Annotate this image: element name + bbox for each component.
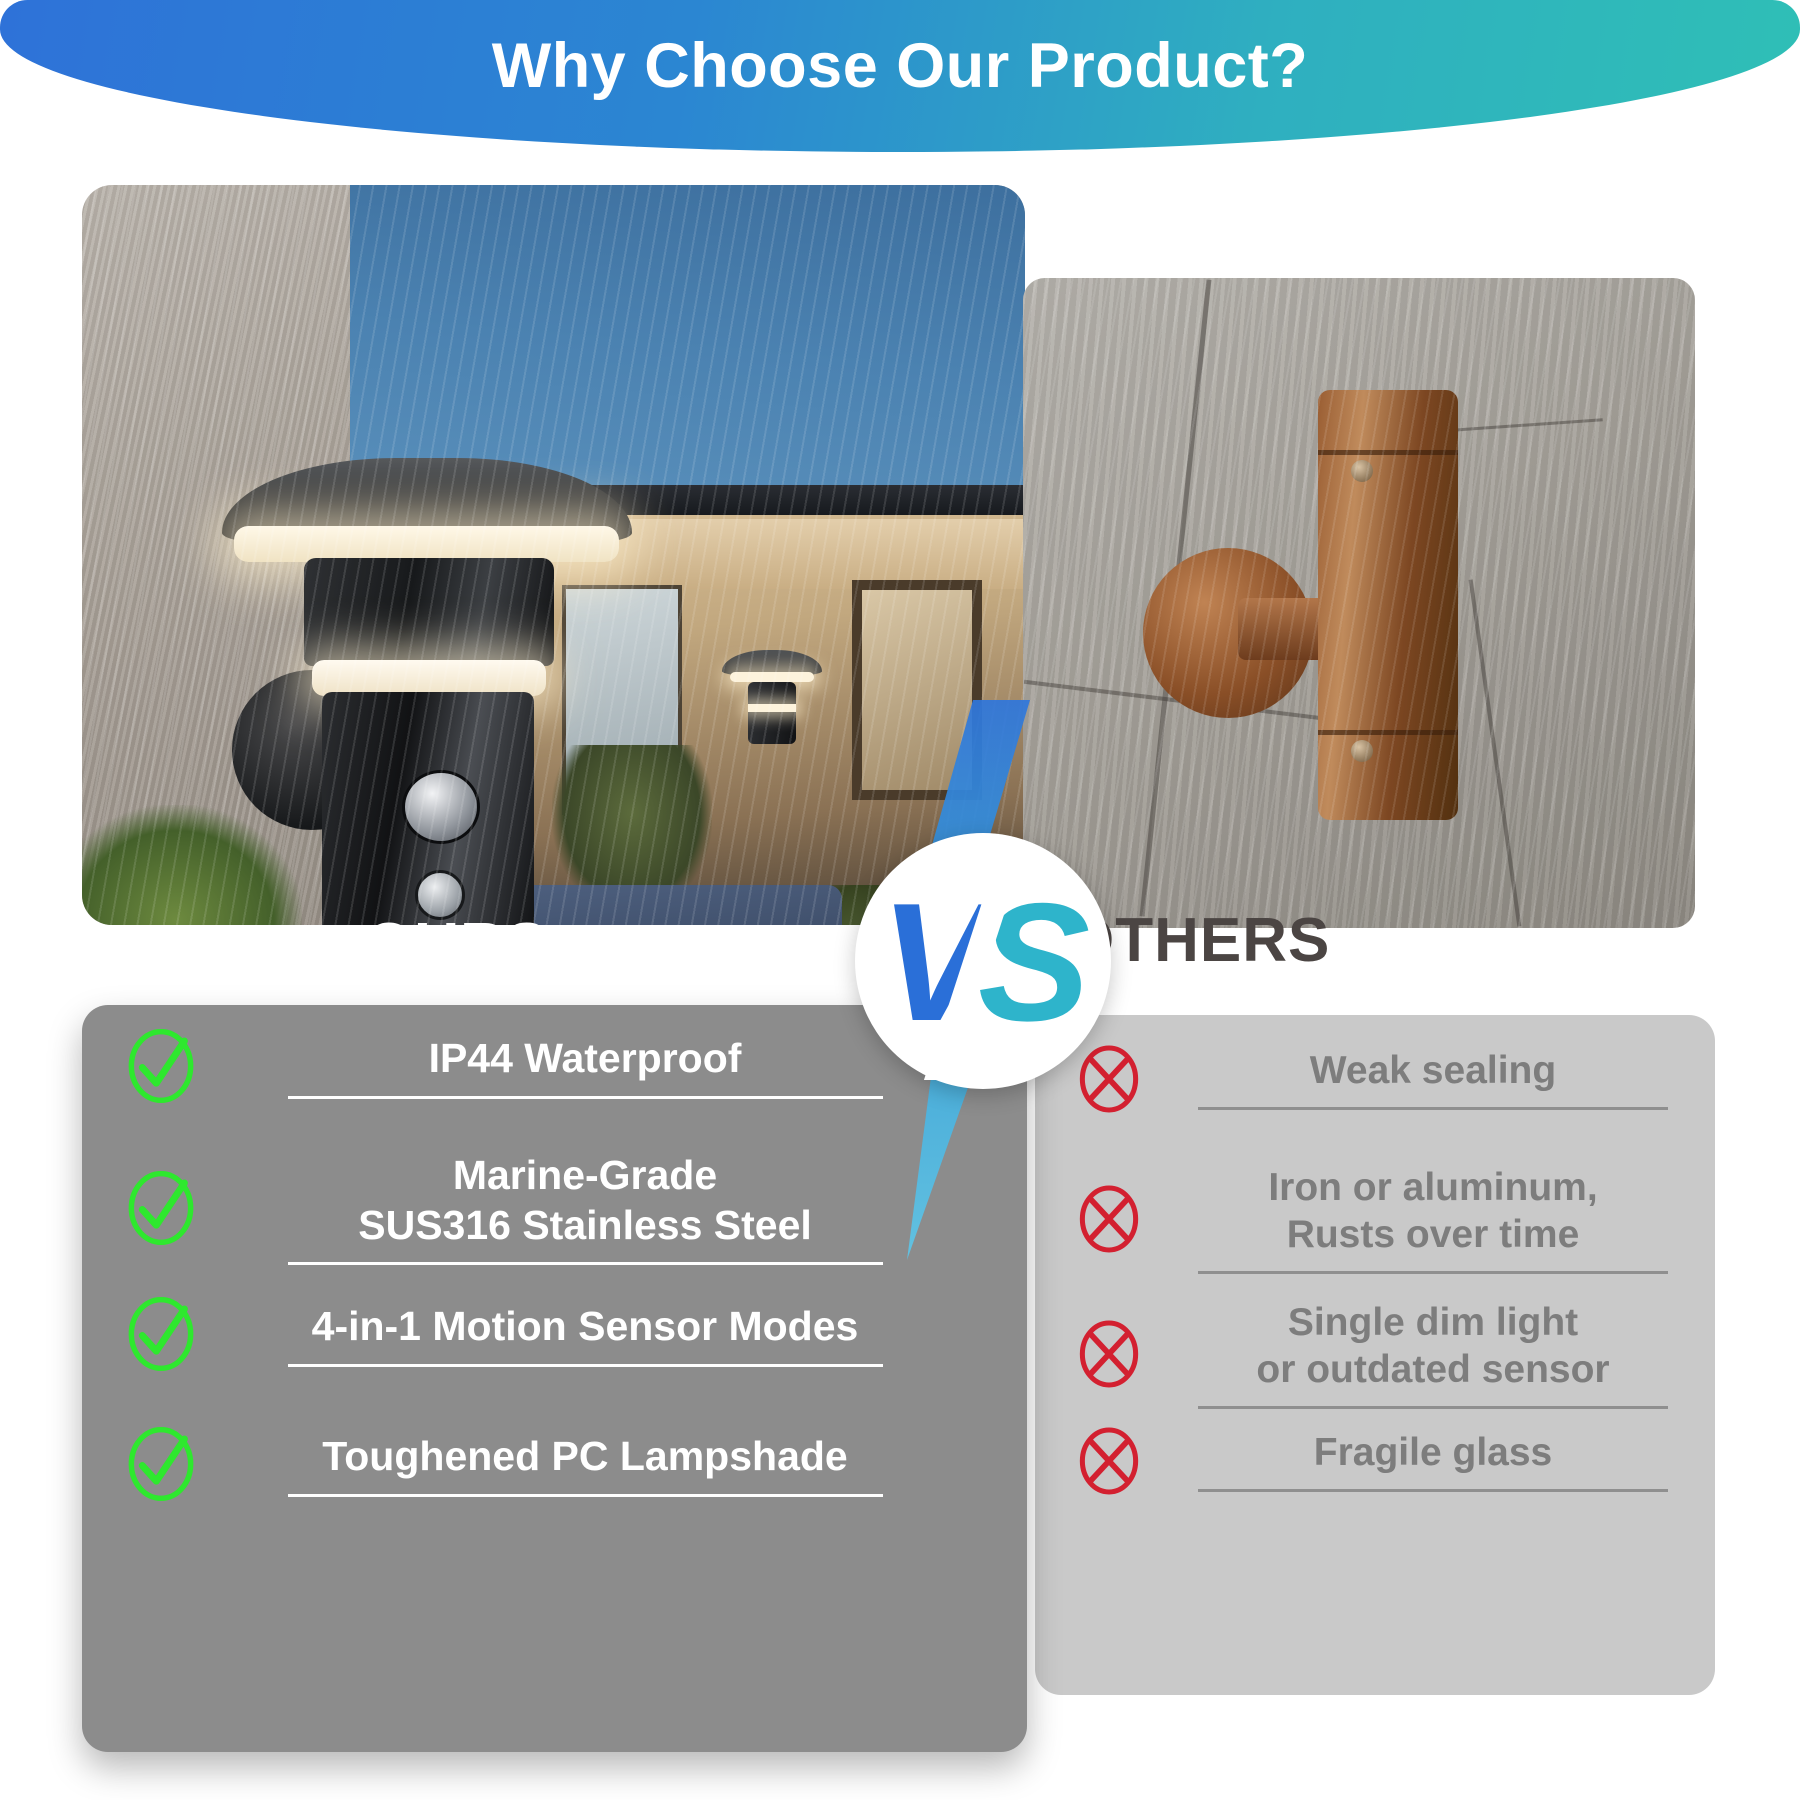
ours-feature-text-wrap: Toughened PC Lampshade [260,1431,910,1496]
others-feature-text-wrap: Iron or aluminum, Rusts over time [1193,1165,1673,1274]
check-circle-icon [122,1027,200,1105]
others-feature-label: Weak sealing [1310,1048,1556,1095]
others-feature-text-wrap: Single dim light or outdated sensor [1193,1300,1673,1409]
ours-feature-row: Toughened PC Lampshade [122,1425,992,1503]
others-product-photo [1023,278,1695,928]
ours-feature-row: Marine-Grade SUS316 Stainless Steel [122,1150,992,1265]
ours-feature-row: 4-in-1 Motion Sensor Modes [122,1295,992,1373]
ours-feature-text-wrap: 4-in-1 Motion Sensor Modes [260,1301,910,1366]
feature-divider [288,1262,883,1265]
others-feature-text-wrap: Fragile glass [1193,1430,1673,1492]
check-circle-icon [122,1295,200,1373]
rain-overlay [1023,278,1695,928]
check-circle-icon [122,1425,200,1503]
others-feature-row: Single dim light or outdated sensor [1073,1300,1693,1409]
others-feature-row: Fragile glass [1073,1425,1693,1497]
check-circle-icon [122,1169,200,1247]
ours-feature-label: Toughened PC Lampshade [322,1431,847,1481]
ours-feature-label: IP44 Waterproof [429,1033,742,1083]
others-feature-label: Fragile glass [1314,1430,1552,1477]
feature-divider [288,1364,883,1367]
feature-divider [1198,1489,1668,1492]
others-feature-text-wrap: Weak sealing [1193,1048,1673,1110]
others-feature-row: Weak sealing [1073,1043,1693,1115]
others-feature-label: Iron or aluminum, Rusts over time [1268,1165,1597,1259]
feature-divider [1198,1406,1668,1409]
ours-product-photo [82,185,1025,925]
header-banner: Why Choose Our Product? [0,0,1800,152]
feature-divider [288,1494,883,1497]
ours-feature-panel: IP44 WaterproofMarine-Grade SUS316 Stain… [82,1005,1027,1752]
others-feature-row: Iron or aluminum, Rusts over time [1073,1165,1693,1274]
ours-feature-row: IP44 Waterproof [122,1027,992,1105]
ours-label: OURS [365,910,548,981]
ours-feature-text-wrap: IP44 Waterproof [260,1033,910,1098]
ours-feature-label: 4-in-1 Motion Sensor Modes [312,1301,859,1351]
rain-overlay [82,185,1025,925]
others-feature-panel: Weak sealingIron or aluminum, Rusts over… [1035,1015,1715,1695]
x-circle-icon [1073,1318,1145,1390]
feature-divider [288,1096,883,1099]
feature-divider [1198,1271,1668,1274]
page-title: Why Choose Our Product? [492,30,1309,102]
feature-divider [1198,1107,1668,1110]
vs-badge: V S [855,833,1111,1089]
x-circle-icon [1073,1425,1145,1497]
ours-feature-label: Marine-Grade SUS316 Stainless Steel [358,1150,812,1250]
x-circle-icon [1073,1183,1145,1255]
ours-feature-text-wrap: Marine-Grade SUS316 Stainless Steel [260,1150,910,1265]
others-feature-label: Single dim light or outdated sensor [1256,1300,1609,1394]
